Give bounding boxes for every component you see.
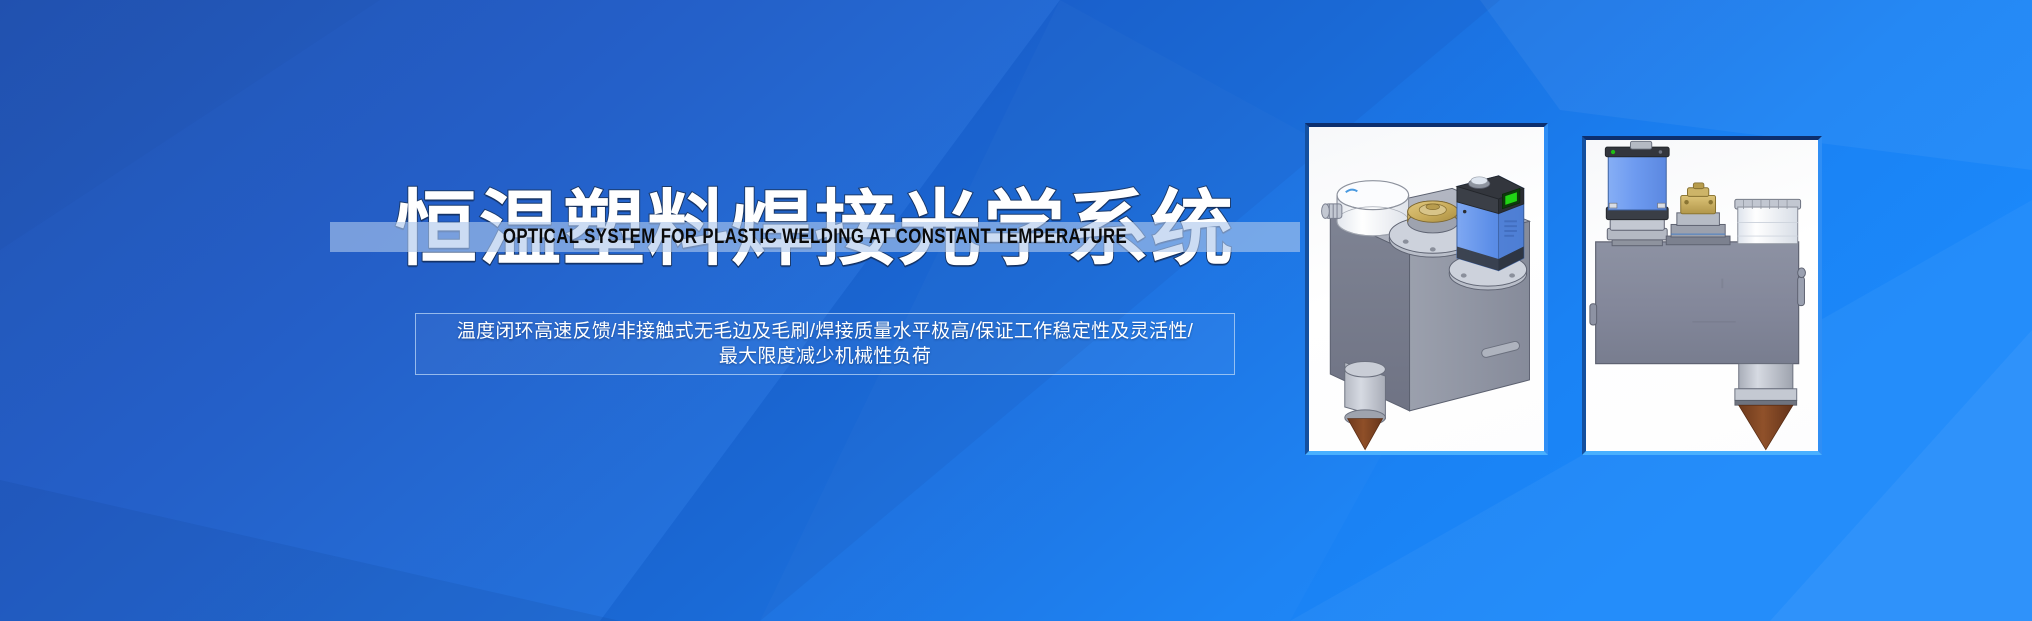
product-render-isometric [1309,127,1544,451]
product-image-frame-front[interactable] [1582,136,1822,455]
promo-banner: 恒温塑料焊接光学系统 OPTICAL SYSTEM FOR PLASTIC WE… [0,0,2032,621]
product-render-front [1586,140,1818,451]
description-box: 温度闭环高速反馈/非接触式无毛边及毛刷/焊接质量水平极高/保证工作稳定性及灵活性… [415,313,1235,375]
product-image-frame-isometric[interactable] [1305,123,1548,455]
description-line-1: 温度闭环高速反馈/非接触式无毛边及毛刷/焊接质量水平极高/保证工作稳定性及灵活性… [457,321,1193,342]
description-line-2: 最大限度减少机械性负荷 [719,346,931,367]
headline-block: 恒温塑料焊接光学系统 OPTICAL SYSTEM FOR PLASTIC WE… [390,178,1240,293]
description-text: 温度闭环高速反馈/非接触式无毛边及毛刷/焊接质量水平极高/保证工作稳定性及灵活性… [447,319,1203,369]
page-title-english: OPTICAL SYSTEM FOR PLASTIC WELDING AT CO… [475,220,1155,254]
